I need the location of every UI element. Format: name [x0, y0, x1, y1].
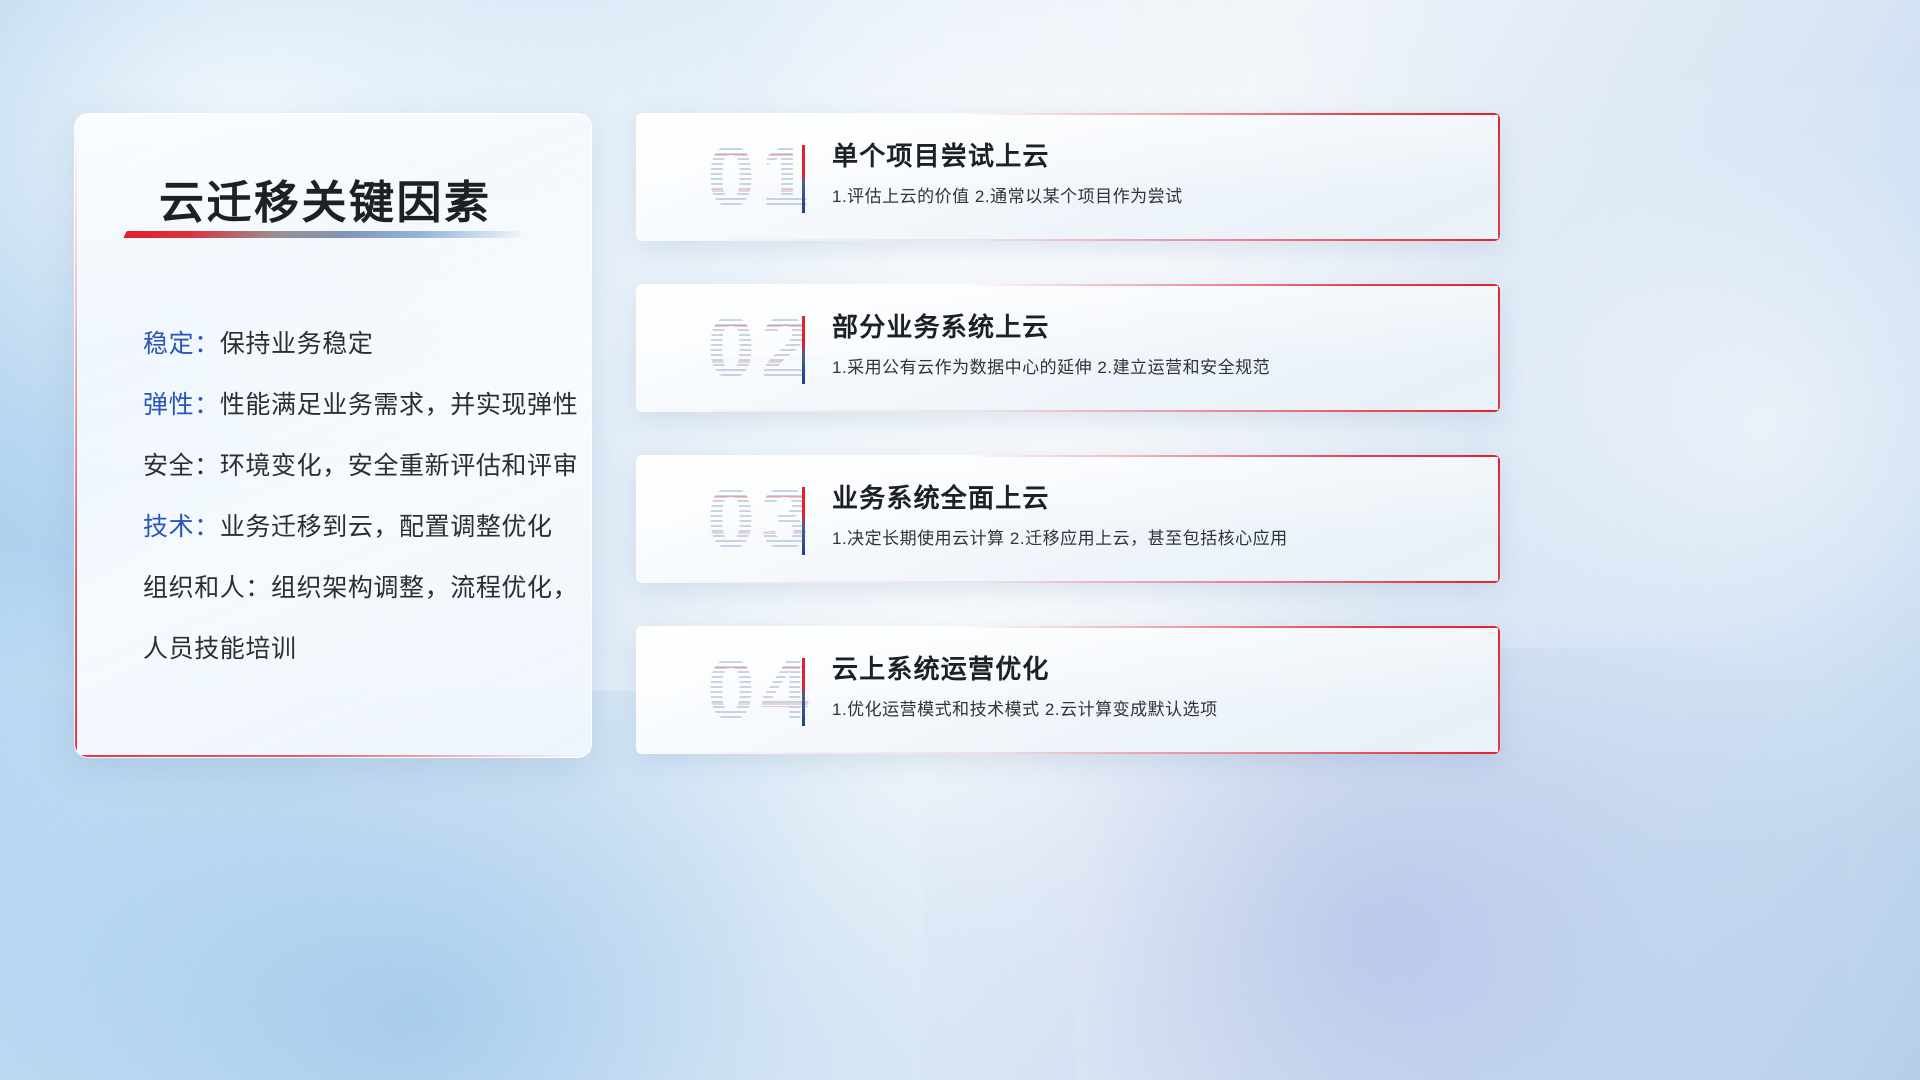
- card-top-red-line: [636, 113, 1500, 115]
- list-item: 组织和人：组织架构调整，流程优化，: [143, 558, 567, 619]
- list-item: 技术：业务迁移到云，配置调整优化: [143, 497, 567, 558]
- card-body: 部分业务系统上云 1.采用公有云作为数据中心的延伸 2.建立运营和安全规范: [832, 308, 1476, 381]
- list-item-text: 业务迁移到云，配置调整优化: [220, 513, 553, 541]
- list-item-text: 性能满足业务需求，并实现弹性: [220, 391, 578, 419]
- card-bottom-red-line: [636, 239, 1500, 241]
- card-step-number: 04: [666, 632, 856, 748]
- list-item: 安全：环境变化，安全重新评估和评审: [143, 436, 567, 497]
- card-top-red-line: [636, 455, 1500, 457]
- card-step-number: 01: [666, 119, 856, 235]
- card-bottom-red-line: [636, 581, 1500, 583]
- list-item-key: 弹性：: [143, 391, 220, 419]
- card-bottom-red-line: [636, 410, 1500, 412]
- list-item-key: 稳定：: [143, 330, 220, 358]
- list-item: 人员技能培训: [143, 619, 567, 680]
- list-item-key: 组织和人：: [143, 574, 271, 602]
- title-underline-gradient: [123, 231, 522, 238]
- stage-card[interactable]: 02 02 部分业务系统上云 1.采用公有云作为数据中心的延伸 2.建立运营和安…: [636, 284, 1500, 412]
- card-title: 云上系统运营优化: [832, 650, 1476, 688]
- card-body: 业务系统全面上云 1.决定长期使用云计算 2.迁移应用上云，甚至包括核心应用: [832, 479, 1476, 552]
- card-right-red-line: [1498, 626, 1500, 754]
- list-item-text: 环境变化，安全重新评估和评审: [220, 452, 578, 480]
- list-item: 弹性：性能满足业务需求，并实现弹性: [143, 375, 567, 436]
- card-description: 1.优化运营模式和技术模式 2.云计算变成默认选项: [832, 697, 1476, 723]
- stage-card[interactable]: 03 03 业务系统全面上云 1.决定长期使用云计算 2.迁移应用上云，甚至包括…: [636, 455, 1500, 583]
- card-title: 业务系统全面上云: [832, 479, 1476, 517]
- card-body: 云上系统运营优化 1.优化运营模式和技术模式 2.云计算变成默认选项: [832, 650, 1476, 723]
- card-right-red-line: [1498, 284, 1500, 412]
- list-item: 稳定：保持业务稳定: [143, 314, 567, 375]
- card-title: 单个项目尝试上云: [832, 137, 1476, 175]
- slide-stage: 云迁移关键因素 稳定：保持业务稳定 弹性：性能满足业务需求，并实现弹性 安全：环…: [0, 0, 1920, 1080]
- card-accent-bar: [802, 658, 805, 726]
- card-step-number: 02: [666, 290, 856, 406]
- card-description: 1.决定长期使用云计算 2.迁移应用上云，甚至包括核心应用: [832, 526, 1476, 552]
- list-item-key: 安全：: [143, 452, 220, 480]
- card-right-red-line: [1498, 455, 1500, 583]
- stage-card[interactable]: 04 04 云上系统运营优化 1.优化运营模式和技术模式 2.云计算变成默认选项: [636, 626, 1500, 754]
- card-description: 1.采用公有云作为数据中心的延伸 2.建立运营和安全规范: [832, 355, 1476, 381]
- card-right-red-line: [1498, 113, 1500, 241]
- card-accent-bar: [802, 316, 805, 384]
- stage-card[interactable]: 01 01 单个项目尝试上云 1.评估上云的价值 2.通常以某个项目作为尝试: [636, 113, 1500, 241]
- panel-left-red-edge: [75, 124, 77, 757]
- card-bottom-red-line: [636, 752, 1500, 754]
- card-body: 单个项目尝试上云 1.评估上云的价值 2.通常以某个项目作为尝试: [832, 137, 1476, 210]
- card-accent-bar: [802, 145, 805, 213]
- list-item-text: 保持业务稳定: [220, 330, 374, 358]
- card-top-red-line: [636, 626, 1500, 628]
- key-factors-panel: 云迁移关键因素 稳定：保持业务稳定 弹性：性能满足业务需求，并实现弹性 安全：环…: [74, 113, 592, 758]
- card-description: 1.评估上云的价值 2.通常以某个项目作为尝试: [832, 184, 1476, 210]
- list-item-key: 技术：: [143, 513, 220, 541]
- stage-card-list: 01 01 单个项目尝试上云 1.评估上云的价值 2.通常以某个项目作为尝试 0…: [636, 113, 1868, 797]
- card-step-number: 03: [666, 461, 856, 577]
- card-title: 部分业务系统上云: [832, 308, 1476, 346]
- card-top-red-line: [636, 284, 1500, 286]
- key-factors-list: 稳定：保持业务稳定 弹性：性能满足业务需求，并实现弹性 安全：环境变化，安全重新…: [143, 314, 567, 680]
- list-item-text: 人员技能培训: [143, 635, 297, 663]
- card-accent-bar: [802, 487, 805, 555]
- list-item-text: 组织架构调整，流程优化，: [271, 574, 578, 602]
- panel-bottom-red-edge: [75, 755, 577, 757]
- page-title: 云迁移关键因素: [159, 166, 492, 231]
